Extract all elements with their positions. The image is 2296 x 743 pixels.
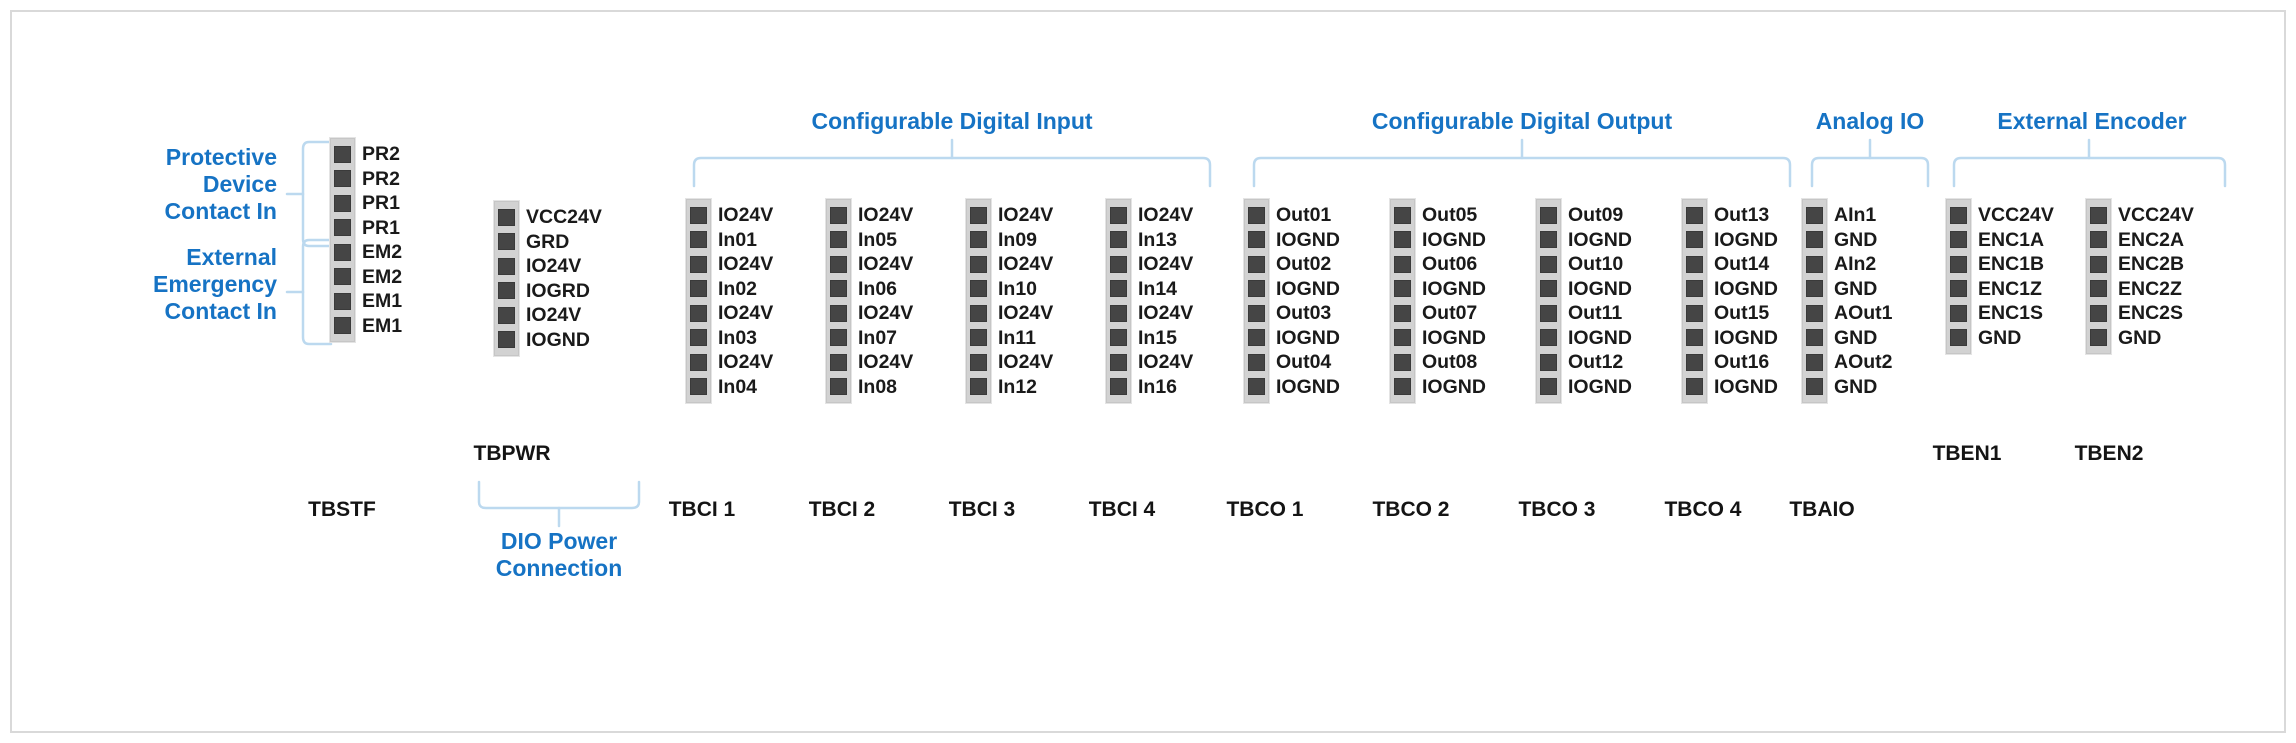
pin-row[interactable]: In05: [830, 228, 847, 253]
pin-contact-icon: [1686, 280, 1703, 297]
pin-row[interactable]: In10: [970, 277, 987, 302]
pin-contact-icon: [830, 280, 847, 297]
pin-row[interactable]: PR1: [334, 216, 351, 241]
pin-label: AIn1: [1834, 203, 1876, 228]
pin-contact-icon: [1248, 207, 1265, 224]
pin-contact-icon: [970, 231, 987, 248]
pin-row[interactable]: IO24V: [970, 301, 987, 326]
pin-label: ENC1B: [1978, 252, 2044, 277]
pin-label: IO24V: [718, 203, 773, 228]
pin-row[interactable]: IOGND: [1540, 375, 1557, 400]
connector-tbci1-pin-strip[interactable]: IO24V In01 IO24V In02 IO24V In03 IO24V: [686, 199, 711, 403]
pin-contact-icon: [1950, 305, 1967, 322]
pin-label: ENC1Z: [1978, 277, 2042, 302]
bracket-external-encoder: [1952, 140, 2227, 188]
group-title-line: External: [60, 244, 277, 271]
bracket-dio-power: [477, 480, 641, 528]
pin-contact-icon: [498, 258, 515, 275]
pin-label: In02: [718, 277, 757, 302]
pin-row[interactable]: IOGND: [1248, 375, 1265, 400]
pin-label: IOGND: [1568, 228, 1632, 253]
pin-label: Out02: [1276, 252, 1331, 277]
pin-label: In12: [998, 375, 1037, 400]
pin-row[interactable]: Out14: [1686, 252, 1703, 277]
pin-row[interactable]: IO24V: [830, 203, 847, 228]
pin-contact-icon: [830, 354, 847, 371]
pin-row[interactable]: GND: [1806, 375, 1823, 400]
pin-label: IO24V: [1138, 350, 1193, 375]
pin-row[interactable]: IOGND: [1248, 277, 1265, 302]
pin-contact-icon: [498, 307, 515, 324]
group-title-configurable-digital-output: Configurable Digital Output: [1232, 108, 1812, 135]
pin-label: Out01: [1276, 203, 1331, 228]
pin-row[interactable]: IOGND: [1540, 326, 1557, 351]
pin-contact-icon: [830, 231, 847, 248]
pin-row[interactable]: In13: [1110, 228, 1127, 253]
pin-row[interactable]: Out12: [1540, 350, 1557, 375]
pin-label: IO24V: [858, 252, 913, 277]
pin-label: Out09: [1568, 203, 1623, 228]
pin-row[interactable]: IO24V: [1110, 203, 1127, 228]
connector-name-tben2: TBEN2: [2034, 442, 2184, 466]
pin-contact-icon: [1806, 354, 1823, 371]
connector-tbco2-pin-strip[interactable]: Out05 IOGND Out06 IOGND Out07 IOGND Out0…: [1390, 199, 1415, 403]
pin-label: IO24V: [998, 301, 1053, 326]
pin-contact-icon: [498, 282, 515, 299]
pin-contact-icon: [1540, 305, 1557, 322]
pin-contact-icon: [2090, 329, 2107, 346]
pin-label: VCC24V: [2118, 203, 2194, 228]
pin-contact-icon: [970, 305, 987, 322]
group-title-protective-device-contact-in: Protective Device Contact In: [72, 144, 277, 225]
pin-row[interactable]: IOGND: [1686, 375, 1703, 400]
pin-row[interactable]: EM2: [334, 265, 351, 290]
pin-row[interactable]: Out02: [1248, 252, 1265, 277]
connector-name-tbci2: TBCI 2: [772, 498, 912, 522]
pin-row[interactable]: IO24V: [1110, 301, 1127, 326]
pin-label: In10: [998, 277, 1037, 302]
pin-contact-icon: [830, 207, 847, 224]
pin-row[interactable]: IOGND: [1394, 326, 1411, 351]
pin-row[interactable]: Out07: [1394, 301, 1411, 326]
pin-label: In05: [858, 228, 897, 253]
connector-name-tbci1: TBCI 1: [632, 498, 772, 522]
pin-label: IO24V: [998, 350, 1053, 375]
pin-contact-icon: [1394, 231, 1411, 248]
connector-name-tben1: TBEN1: [1892, 442, 2042, 466]
connector-name-tbco2: TBCO 2: [1336, 498, 1486, 522]
pin-row[interactable]: AIn1: [1806, 203, 1823, 228]
pin-contact-icon: [830, 329, 847, 346]
pin-contact-icon: [2090, 231, 2107, 248]
pin-label: Out12: [1568, 350, 1623, 375]
pin-contact-icon: [970, 329, 987, 346]
pin-row[interactable]: IO24V: [970, 252, 987, 277]
pin-contact-icon: [690, 354, 707, 371]
pin-label: IO24V: [858, 301, 913, 326]
pin-row[interactable]: ENC2A: [2090, 228, 2107, 253]
pin-contact-icon: [1686, 354, 1703, 371]
pin-row[interactable]: IOGND: [1686, 228, 1703, 253]
pin-label: IO24V: [998, 203, 1053, 228]
pin-contact-icon: [1806, 231, 1823, 248]
pin-contact-icon: [2090, 256, 2107, 273]
pin-contact-icon: [1110, 280, 1127, 297]
pin-label: IOGND: [1276, 326, 1340, 351]
pin-contact-icon: [1540, 231, 1557, 248]
pin-label: IOGND: [1422, 326, 1486, 351]
pin-row[interactable]: In09: [970, 228, 987, 253]
pin-contact-icon: [1686, 305, 1703, 322]
pin-row[interactable]: VCC24V: [1950, 203, 1967, 228]
pin-label: PR2: [362, 142, 400, 167]
pin-row[interactable]: IOGND: [1686, 326, 1703, 351]
pin-contact-icon: [334, 244, 351, 261]
pin-row[interactable]: IO24V: [830, 350, 847, 375]
pin-contact-icon: [1110, 231, 1127, 248]
pin-label: EM2: [362, 265, 402, 290]
pin-label: AOut2: [1834, 350, 1893, 375]
connector-tbci3-pin-strip[interactable]: IO24V In09 IO24V In10 IO24V In11 IO24V: [966, 199, 991, 403]
pin-contact-icon: [1248, 329, 1265, 346]
pin-row[interactable]: IO24V: [498, 303, 515, 328]
pin-contact-icon: [1394, 305, 1411, 322]
pin-label: IOGND: [1568, 277, 1632, 302]
pin-contact-icon: [1540, 207, 1557, 224]
pin-contact-icon: [1110, 305, 1127, 322]
pin-contact-icon: [1540, 329, 1557, 346]
pin-label: Out03: [1276, 301, 1331, 326]
pin-contact-icon: [334, 146, 351, 163]
bracket-emergency: [287, 238, 333, 346]
pin-label: IOGND: [1714, 326, 1778, 351]
pin-row[interactable]: IO24V: [690, 301, 707, 326]
connector-tben2-pin-strip[interactable]: VCC24V ENC2A ENC2B ENC2Z ENC2S GND: [2086, 199, 2111, 354]
group-title-dio-power-connection: DIO Power Connection: [477, 528, 641, 582]
pin-row[interactable]: ENC2B: [2090, 252, 2107, 277]
pin-contact-icon: [1806, 378, 1823, 395]
pin-row[interactable]: GND: [1806, 326, 1823, 351]
pin-label: IOGRD: [526, 279, 590, 304]
pin-label: Out05: [1422, 203, 1477, 228]
pin-row[interactable]: IOGND: [1686, 277, 1703, 302]
pin-row[interactable]: In15: [1110, 326, 1127, 351]
pin-label: IOGND: [1422, 375, 1486, 400]
pin-label: GND: [1834, 228, 1877, 253]
pin-label: In15: [1138, 326, 1177, 351]
pin-row[interactable]: In11: [970, 326, 987, 351]
pin-contact-icon: [690, 378, 707, 395]
pin-contact-icon: [1686, 378, 1703, 395]
pin-contact-icon: [1394, 280, 1411, 297]
pin-label: EM1: [362, 314, 402, 339]
pin-label: In07: [858, 326, 897, 351]
pin-row[interactable]: EM1: [334, 314, 351, 339]
pin-row[interactable]: Out09: [1540, 203, 1557, 228]
pin-row[interactable]: ENC2S: [2090, 301, 2107, 326]
pin-row[interactable]: AIn2: [1806, 252, 1823, 277]
pin-row[interactable]: GND: [2090, 326, 2107, 351]
pin-contact-icon: [830, 256, 847, 273]
connector-tben1-pin-strip[interactable]: VCC24V ENC1A ENC1B ENC1Z ENC1S GND: [1946, 199, 1971, 354]
pin-contact-icon: [1806, 207, 1823, 224]
pin-contact-icon: [970, 378, 987, 395]
pin-row[interactable]: Out03: [1248, 301, 1265, 326]
pin-row[interactable]: IOGND: [1540, 228, 1557, 253]
pin-contact-icon: [1110, 378, 1127, 395]
pin-row[interactable]: In08: [830, 375, 847, 400]
connector-tbco1-pin-strip[interactable]: Out01 IOGND Out02 IOGND Out03 IOGND Out0…: [1244, 199, 1269, 403]
pin-label: GND: [2118, 326, 2161, 351]
connector-tbci4-pin-strip[interactable]: IO24V In13 IO24V In14 IO24V In15 IO24V: [1106, 199, 1131, 403]
connector-tbpwr-pin-strip[interactable]: VCC24V GRD IO24V IOGRD IO24V IOGND: [494, 201, 519, 356]
connector-tbaio-pin-strip[interactable]: AIn1 GND AIn2 GND AOut1 GND AOut2 GND: [1802, 199, 1827, 403]
pin-label: IOGND: [1714, 228, 1778, 253]
pin-contact-icon: [2090, 207, 2107, 224]
pin-contact-icon: [2090, 305, 2107, 322]
pin-label: IOGND: [1422, 277, 1486, 302]
pin-contact-icon: [1248, 280, 1265, 297]
bracket-protective: [287, 140, 333, 248]
connector-name-tbpwr: TBPWR: [442, 442, 582, 466]
pin-row[interactable]: Out13: [1686, 203, 1703, 228]
pin-row[interactable]: Out04: [1248, 350, 1265, 375]
pin-contact-icon: [1686, 207, 1703, 224]
pin-row[interactable]: In06: [830, 277, 847, 302]
pin-row[interactable]: EM1: [334, 289, 351, 314]
pin-label: PR2: [362, 167, 400, 192]
pin-label: In16: [1138, 375, 1177, 400]
pin-label: IO24V: [998, 252, 1053, 277]
pin-label: IO24V: [526, 254, 581, 279]
pin-row[interactable]: PR2: [334, 167, 351, 192]
pin-row[interactable]: Out11: [1540, 301, 1557, 326]
pin-row[interactable]: IO24V: [970, 350, 987, 375]
pin-row[interactable]: IO24V: [830, 252, 847, 277]
pin-contact-icon: [1950, 256, 1967, 273]
pin-row[interactable]: IOGND: [498, 328, 515, 353]
pin-row[interactable]: In02: [690, 277, 707, 302]
connector-name-tbci4: TBCI 4: [1052, 498, 1192, 522]
group-title-configurable-digital-input: Configurable Digital Input: [672, 108, 1232, 135]
pin-contact-icon: [690, 305, 707, 322]
pin-label: In14: [1138, 277, 1177, 302]
pin-row[interactable]: IOGRD: [498, 279, 515, 304]
pin-label: AIn2: [1834, 252, 1876, 277]
group-title-line: Protective: [72, 144, 277, 171]
pin-contact-icon: [970, 354, 987, 371]
pin-label: ENC2Z: [2118, 277, 2182, 302]
pin-label: GRD: [526, 230, 569, 255]
pin-label: IOGND: [1714, 277, 1778, 302]
pin-row[interactable]: In04: [690, 375, 707, 400]
pin-label: ENC2S: [2118, 301, 2183, 326]
pin-label: EM2: [362, 240, 402, 265]
pin-label: VCC24V: [526, 205, 602, 230]
pin-label: In13: [1138, 228, 1177, 253]
pin-label: IO24V: [526, 303, 581, 328]
connector-name-tbco3: TBCO 3: [1482, 498, 1632, 522]
pin-row[interactable]: VCC24V: [498, 205, 515, 230]
pin-row[interactable]: In14: [1110, 277, 1127, 302]
pin-row[interactable]: Out05: [1394, 203, 1411, 228]
pin-row[interactable]: IO24V: [830, 301, 847, 326]
pin-contact-icon: [1394, 354, 1411, 371]
pin-row[interactable]: ENC1S: [1950, 301, 1967, 326]
pin-label: Out06: [1422, 252, 1477, 277]
pin-contact-icon: [1394, 329, 1411, 346]
pin-row[interactable]: Out08: [1394, 350, 1411, 375]
pin-contact-icon: [334, 268, 351, 285]
pin-contact-icon: [2090, 280, 2107, 297]
pin-row[interactable]: Out06: [1394, 252, 1411, 277]
pin-row[interactable]: ENC1B: [1950, 252, 1967, 277]
pin-label: IO24V: [858, 350, 913, 375]
pin-label: IOGND: [1568, 375, 1632, 400]
pin-contact-icon: [1686, 329, 1703, 346]
pin-label: ENC2B: [2118, 252, 2184, 277]
connector-tbci2-pin-strip[interactable]: IO24V In05 IO24V In06 IO24V In07 IO24V: [826, 199, 851, 403]
pin-row[interactable]: ENC2Z: [2090, 277, 2107, 302]
connector-name-tbstf: TBSTF: [282, 498, 402, 522]
pin-label: Out04: [1276, 350, 1331, 375]
pin-contact-icon: [1806, 329, 1823, 346]
pin-contact-icon: [1110, 256, 1127, 273]
pin-row[interactable]: Out15: [1686, 301, 1703, 326]
pin-contact-icon: [1950, 280, 1967, 297]
pin-row[interactable]: In01: [690, 228, 707, 253]
pin-label: GND: [1834, 326, 1877, 351]
pin-row[interactable]: IO24V: [690, 203, 707, 228]
pin-contact-icon: [334, 170, 351, 187]
pin-row[interactable]: IOGND: [1540, 277, 1557, 302]
pin-row[interactable]: IO24V: [690, 350, 707, 375]
pin-row[interactable]: GRD: [498, 230, 515, 255]
pin-contact-icon: [334, 195, 351, 212]
pin-row[interactable]: IOGND: [1248, 326, 1265, 351]
pin-contact-icon: [1806, 256, 1823, 273]
pin-label: GND: [1978, 326, 2021, 351]
pin-label: Out16: [1714, 350, 1769, 375]
pin-row[interactable]: Out01: [1248, 203, 1265, 228]
pin-label: In04: [718, 375, 757, 400]
diagram-frame: Protective Device Contact In External Em…: [10, 10, 2286, 733]
pin-row[interactable]: In12: [970, 375, 987, 400]
group-title-external-emergency-contact-in: External Emergency Contact In: [60, 244, 277, 325]
pin-contact-icon: [830, 305, 847, 322]
pin-row[interactable]: GND: [1806, 277, 1823, 302]
pin-row[interactable]: AOut2: [1806, 350, 1823, 375]
pin-contact-icon: [498, 331, 515, 348]
pin-contact-icon: [970, 207, 987, 224]
group-title-line: Contact In: [72, 198, 277, 225]
pin-label: Out14: [1714, 252, 1769, 277]
pin-contact-icon: [1110, 329, 1127, 346]
pin-label: In08: [858, 375, 897, 400]
pin-contact-icon: [1394, 256, 1411, 273]
pin-row[interactable]: IO24V: [690, 252, 707, 277]
pin-contact-icon: [970, 256, 987, 273]
pin-label: Out15: [1714, 301, 1769, 326]
group-title-line: Emergency: [60, 271, 277, 298]
pin-contact-icon: [1248, 354, 1265, 371]
bracket-analog-io: [1810, 140, 1930, 188]
pin-contact-icon: [690, 256, 707, 273]
pin-label: ENC1S: [1978, 301, 2043, 326]
pin-label: IOGND: [1568, 326, 1632, 351]
pin-label: IOGND: [1422, 228, 1486, 253]
pin-label: AOut1: [1834, 301, 1893, 326]
pin-label: Out11: [1568, 301, 1622, 326]
pin-row[interactable]: AOut1: [1806, 301, 1823, 326]
pin-row[interactable]: Out10: [1540, 252, 1557, 277]
group-title-line: Connection: [477, 555, 641, 582]
pin-row[interactable]: IOGND: [1394, 277, 1411, 302]
pin-contact-icon: [1686, 231, 1703, 248]
connector-tbco4-pin-strip[interactable]: Out13 IOGND Out14 IOGND Out15 IOGND Out1…: [1682, 199, 1707, 403]
pin-label: VCC24V: [1978, 203, 2054, 228]
pin-row[interactable]: ENC1A: [1950, 228, 1967, 253]
pin-row[interactable]: In03: [690, 326, 707, 351]
pin-contact-icon: [1540, 378, 1557, 395]
pin-row[interactable]: IO24V: [970, 203, 987, 228]
pin-row[interactable]: VCC24V: [2090, 203, 2107, 228]
pin-contact-icon: [690, 231, 707, 248]
pin-label: PR1: [362, 216, 400, 241]
pin-row[interactable]: IO24V: [498, 254, 515, 279]
pin-label: IOGND: [526, 328, 590, 353]
pin-row[interactable]: PR2: [334, 142, 351, 167]
connector-tbco3-pin-strip[interactable]: Out09 IOGND Out10 IOGND Out11 IOGND Out1…: [1536, 199, 1561, 403]
pin-row[interactable]: GND: [1806, 228, 1823, 253]
connector-tbstf-pin-strip[interactable]: PR2 PR2 PR1 PR1 EM2 EM2 EM1 EM1: [330, 138, 355, 342]
group-title-line: Contact In: [60, 298, 277, 325]
pin-label: IOGND: [1276, 228, 1340, 253]
pin-contact-icon: [1950, 207, 1967, 224]
pin-label: Out13: [1714, 203, 1769, 228]
pin-row[interactable]: IOGND: [1394, 228, 1411, 253]
pin-row[interactable]: ENC1Z: [1950, 277, 1967, 302]
pin-label: IO24V: [718, 252, 773, 277]
pin-contact-icon: [334, 219, 351, 236]
pin-row[interactable]: IO24V: [1110, 350, 1127, 375]
pin-row[interactable]: PR1: [334, 191, 351, 216]
pin-contact-icon: [970, 280, 987, 297]
pin-label: In01: [718, 228, 757, 253]
pin-label: IO24V: [1138, 203, 1193, 228]
pin-row[interactable]: IOGND: [1394, 375, 1411, 400]
pin-row[interactable]: IOGND: [1248, 228, 1265, 253]
pin-contact-icon: [1110, 354, 1127, 371]
group-title-analog-io: Analog IO: [1790, 108, 1950, 135]
pin-label: In09: [998, 228, 1037, 253]
pin-row[interactable]: EM2: [334, 240, 351, 265]
pin-contact-icon: [830, 378, 847, 395]
pin-row[interactable]: IO24V: [1110, 252, 1127, 277]
pin-contact-icon: [1248, 378, 1265, 395]
pin-row[interactable]: GND: [1950, 326, 1967, 351]
pin-label: Out10: [1568, 252, 1623, 277]
pin-row[interactable]: In16: [1110, 375, 1127, 400]
bracket-configurable-digital-input: [692, 140, 1212, 188]
pin-row[interactable]: Out16: [1686, 350, 1703, 375]
pin-row[interactable]: In07: [830, 326, 847, 351]
pin-label: IOGND: [1714, 375, 1778, 400]
pin-label: GND: [1834, 277, 1877, 302]
pin-contact-icon: [1110, 207, 1127, 224]
pin-contact-icon: [334, 317, 351, 334]
pin-contact-icon: [1540, 280, 1557, 297]
